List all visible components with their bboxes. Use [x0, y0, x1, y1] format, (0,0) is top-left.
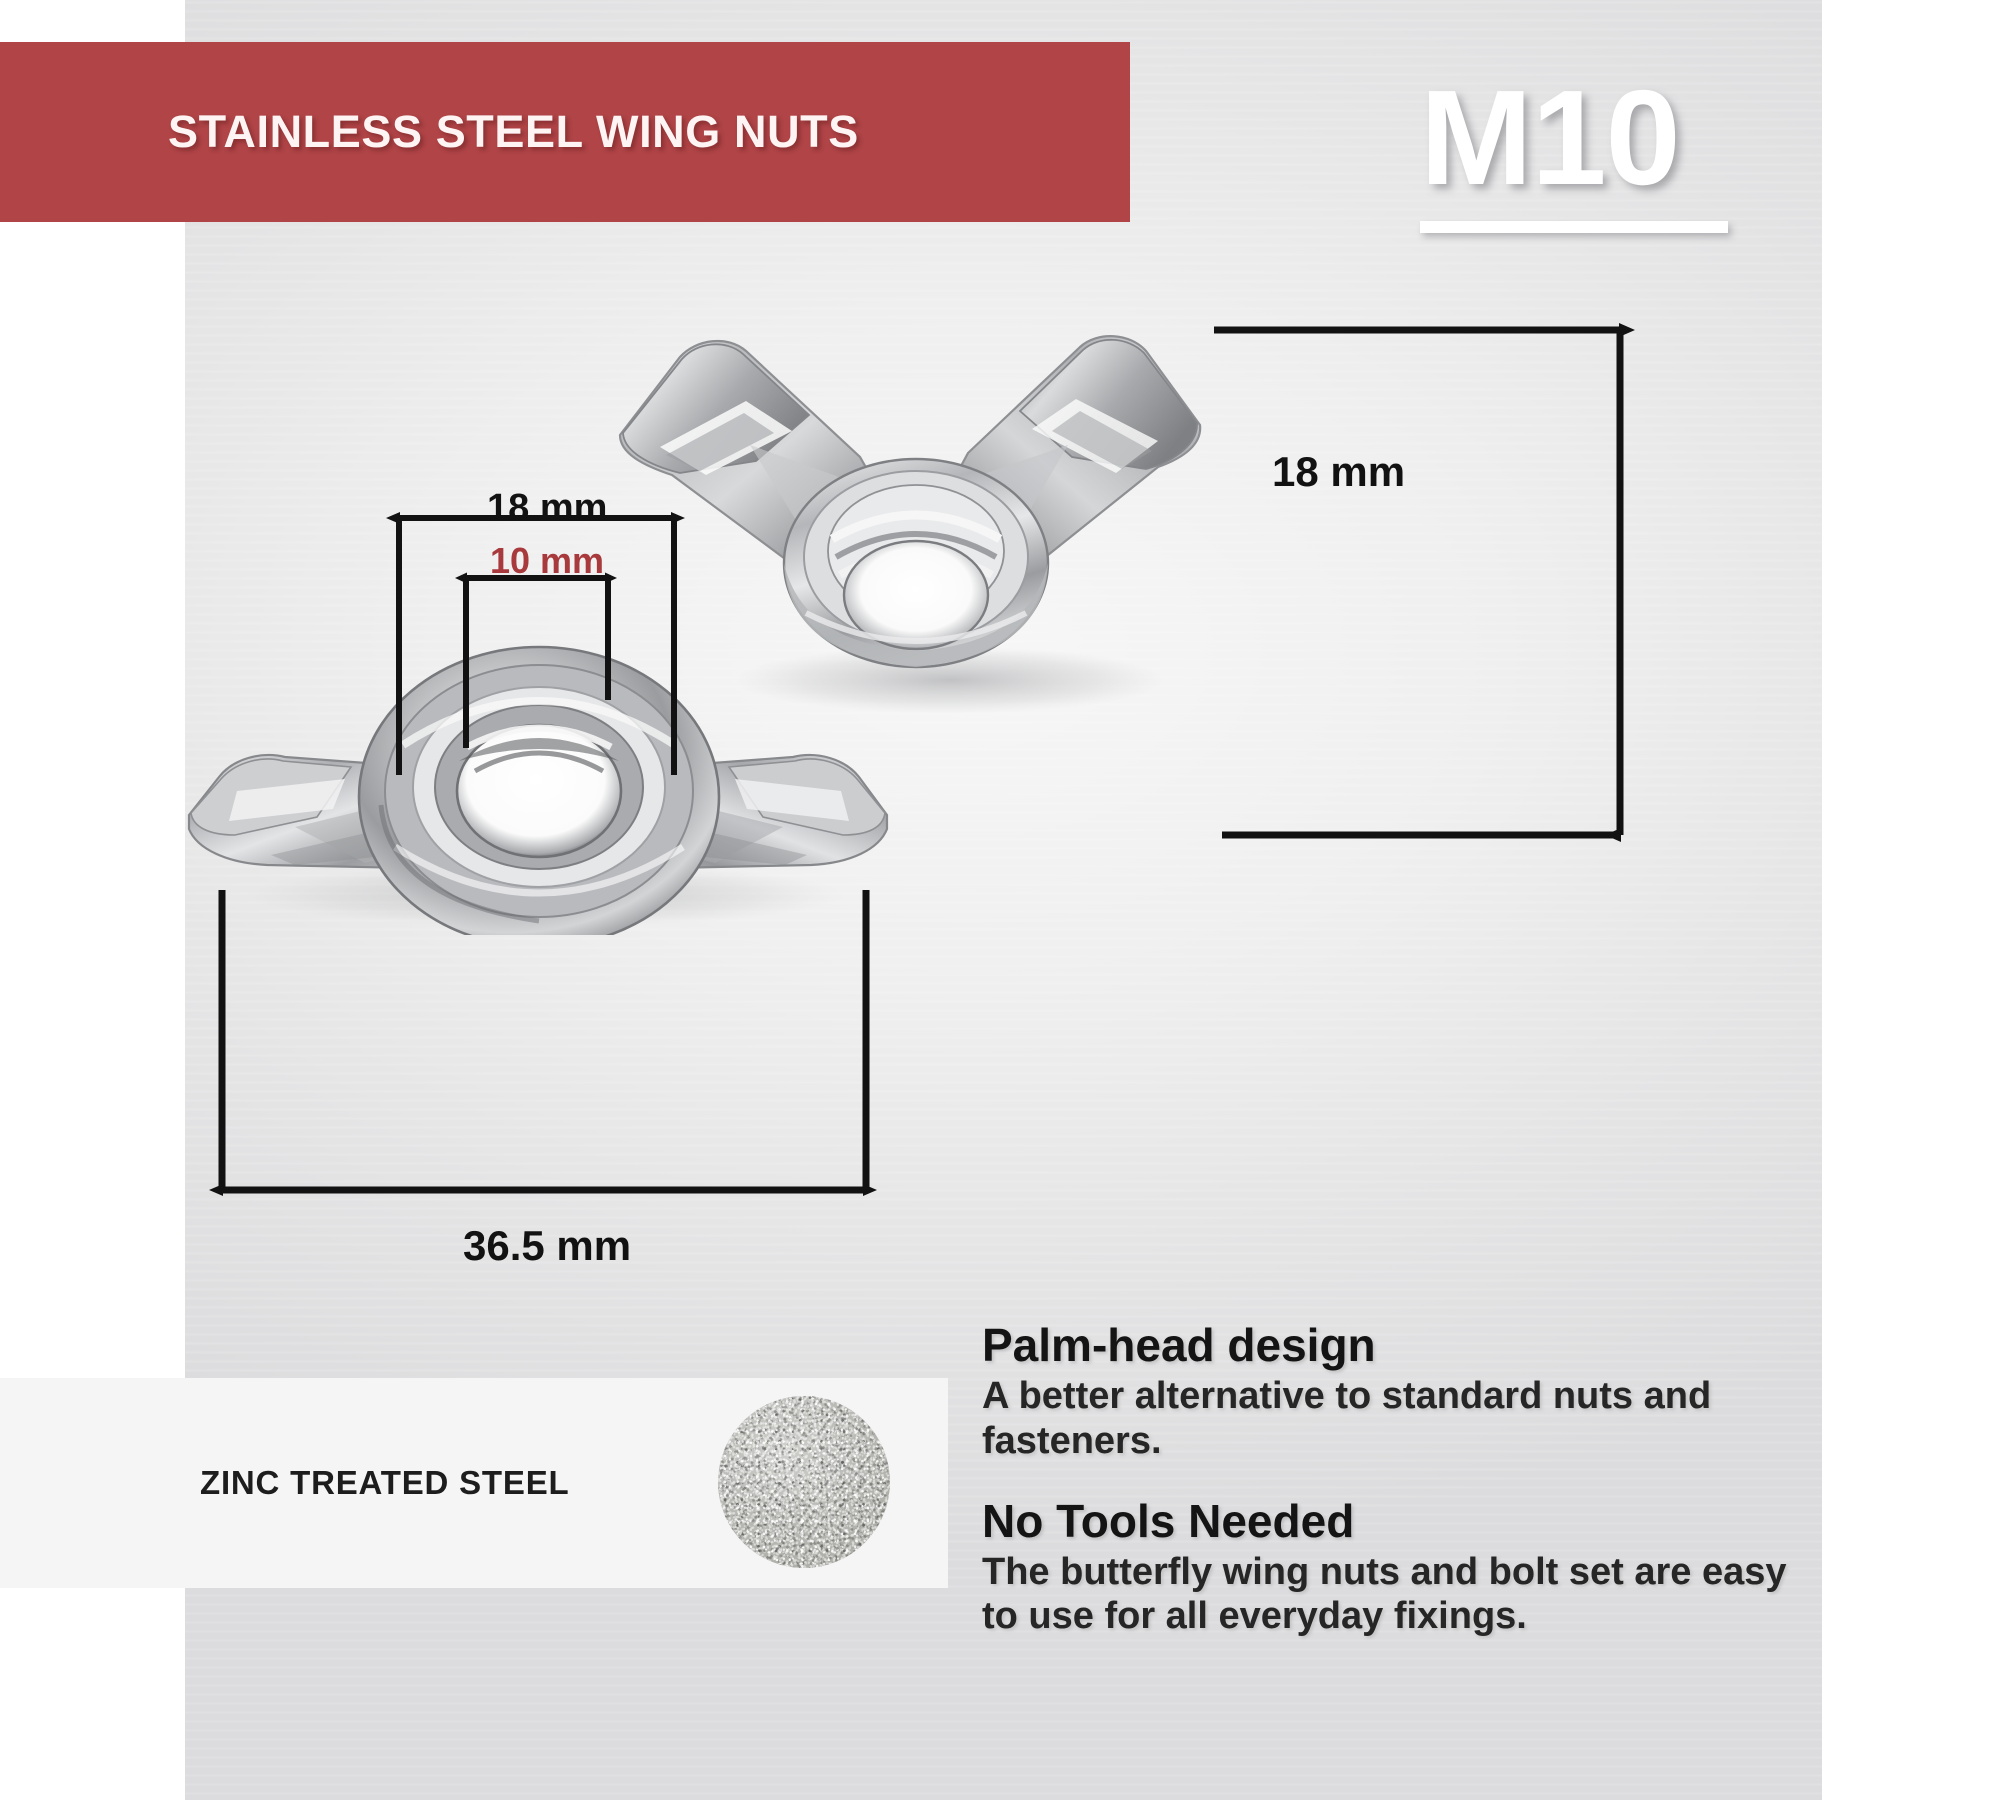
feature-heading: Palm-head design: [982, 1322, 1822, 1368]
size-callout: M10: [1420, 70, 1728, 233]
infographic-page: 18 mm 10 mm 36.5 mm 18 mm STAINLESS STEE…: [0, 0, 2000, 1800]
size-callout-value: M10: [1420, 70, 1728, 205]
feature-heading: No Tools Needed: [982, 1498, 1822, 1544]
header-banner: STAINLESS STEEL WING NUTS: [0, 42, 1130, 222]
size-callout-underline: [1420, 221, 1728, 233]
feature-list: Palm-head design A better alternative to…: [982, 1322, 1822, 1639]
wing-nut-photo-bottom: [175, 565, 905, 935]
feature-body: The butterfly wing nuts and bolt set are…: [982, 1550, 1822, 1640]
page-title: STAINLESS STEEL WING NUTS: [168, 106, 859, 158]
material-label: ZINC TREATED STEEL: [200, 1464, 569, 1502]
feature-item-no-tools: No Tools Needed The butterfly wing nuts …: [982, 1498, 1822, 1640]
feature-item-palm-head: Palm-head design A better alternative to…: [982, 1322, 1822, 1464]
material-panel: ZINC TREATED STEEL: [0, 1378, 948, 1588]
zinc-texture-swatch-icon: [718, 1396, 890, 1568]
feature-body: A better alternative to standard nuts an…: [982, 1374, 1822, 1464]
